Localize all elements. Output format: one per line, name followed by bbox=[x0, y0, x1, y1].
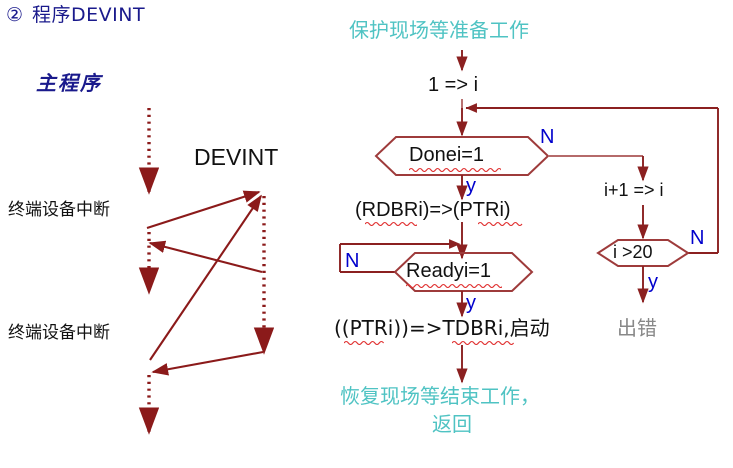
node-epilogue-line1: 恢复现场等结束工作， bbox=[340, 386, 540, 406]
interrupt-label-2: 终端设备中断 bbox=[8, 325, 110, 342]
branch-label-ready-y: y bbox=[466, 293, 476, 313]
branch-label-bound-y: y bbox=[648, 272, 658, 292]
node-error: 出错 bbox=[617, 318, 657, 338]
spellcheck-underline-rdbr bbox=[365, 221, 417, 226]
bullet-number: ② bbox=[6, 6, 24, 25]
branch-label-done-n: N bbox=[540, 127, 554, 147]
page-title: 程序DEVINT bbox=[32, 6, 145, 25]
main-program-caption: 主程序 bbox=[36, 73, 102, 93]
branch-label-done-y: y bbox=[466, 176, 476, 196]
node-ready-test: Readyi=1 bbox=[406, 261, 491, 281]
spellcheck-underline-ready bbox=[406, 283, 502, 288]
interrupt-label-1: 终端设备中断 bbox=[8, 202, 110, 219]
node-bound-test: i >20 bbox=[613, 243, 653, 261]
spellcheck-underline-done bbox=[409, 167, 501, 172]
left-timeline-solid-arrows bbox=[147, 192, 263, 372]
branch-label-bound-n: N bbox=[690, 228, 704, 248]
node-prologue: 保护现场等准备工作 bbox=[349, 20, 529, 40]
spellcheck-underline-ptr2 bbox=[344, 340, 388, 345]
node-increment: i+1 => i bbox=[604, 181, 664, 199]
node-done-test: Donei=1 bbox=[409, 145, 484, 165]
node-send-tdbr: ((PTRi))=>TDBRi,启动 bbox=[334, 318, 550, 338]
branch-label-ready-n: N bbox=[345, 251, 359, 271]
node-epilogue-line2: 返回 bbox=[432, 414, 472, 434]
spellcheck-underline-tdbr bbox=[452, 340, 516, 345]
devint-routine-label: DEVINT bbox=[194, 146, 278, 169]
node-init: 1 => i bbox=[428, 75, 478, 95]
node-copy-rdbr: (RDBRi)=>(PTRi) bbox=[355, 200, 511, 220]
spellcheck-underline-ptr bbox=[478, 221, 524, 226]
